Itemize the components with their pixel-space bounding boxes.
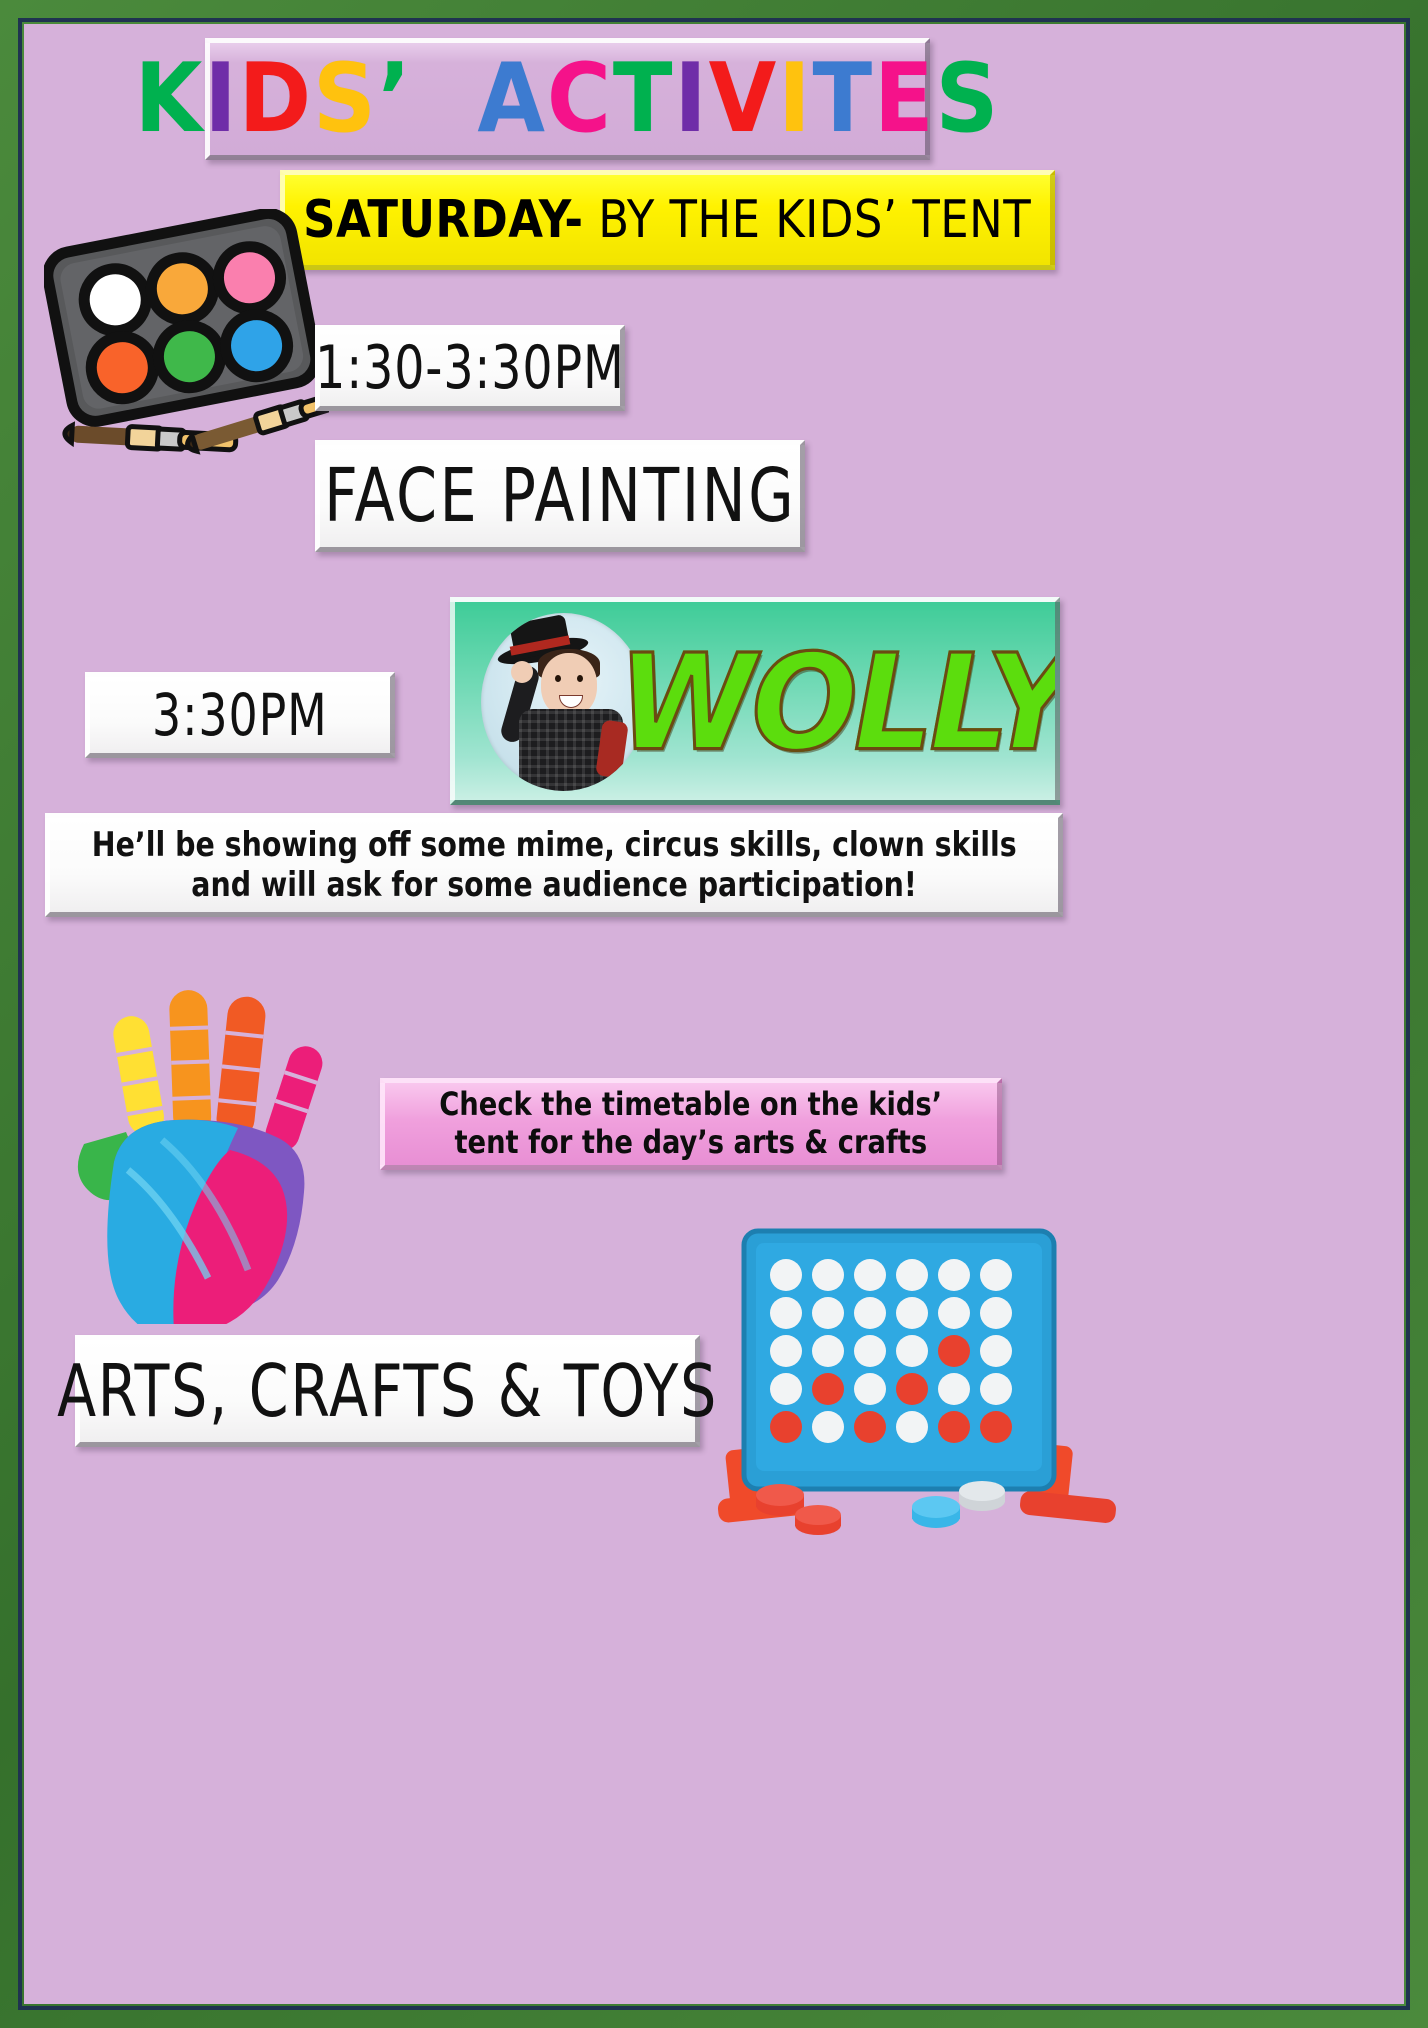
arts-crafts-toys-box: ARTS, CRAFTS & TOYS xyxy=(75,1335,700,1447)
face-painting-time: 1:30-3:30PM xyxy=(315,333,625,403)
clown-eye-right xyxy=(577,675,583,682)
saturday-banner-text: SATURDAY- BY THE KIDS’ TENT xyxy=(304,190,1032,250)
face-painting-time-box: 1:30-3:30PM xyxy=(315,325,625,411)
connect-four-icon xyxy=(714,1209,1134,1539)
paint-palette-icon xyxy=(44,209,329,469)
rainbow-handprint-icon xyxy=(54,964,339,1324)
page-title: KIDS’ ACTIVITES xyxy=(135,52,1001,147)
title-letter-11: I xyxy=(778,52,812,147)
title-letter-1: I xyxy=(204,52,238,147)
wolly-description-line-1: He’ll be showing off some mime, circus s… xyxy=(92,825,1017,865)
clown-hand xyxy=(511,661,533,683)
title-letter-4: ’ xyxy=(378,52,413,147)
arts-crafts-toys-label: ARTS, CRAFTS & TOYS xyxy=(57,1349,718,1433)
face-painting-label: FACE PAINTING xyxy=(324,453,796,539)
saturday-banner: SATURDAY- BY THE KIDS’ TENT xyxy=(280,170,1055,270)
title-letter-8: T xyxy=(613,52,674,147)
wolly-description-line-2: and will ask for some audience participa… xyxy=(191,865,917,905)
title-letter-2: D xyxy=(239,52,313,147)
title-banner: KIDS’ ACTIVITES xyxy=(205,38,930,160)
wolly-time: 3:30PM xyxy=(152,681,328,749)
title-letter-12: T xyxy=(813,52,874,147)
poster-canvas: KIDS’ ACTIVITES SATURDAY- BY THE KIDS’ T… xyxy=(0,0,1428,2028)
timetable-note-line-2: tent for the day’s arts & crafts xyxy=(455,1124,928,1162)
clown-eye-left xyxy=(555,675,561,682)
title-letter-13: E xyxy=(874,52,936,147)
title-letter-5 xyxy=(413,52,478,147)
timetable-note-box: Check the timetable on the kids’ tent fo… xyxy=(380,1078,1002,1170)
title-letter-7: C xyxy=(547,52,613,147)
wolly-banner: WOLLY xyxy=(450,597,1060,805)
face-painting-activity-box: FACE PAINTING xyxy=(315,440,805,552)
title-letter-10: V xyxy=(709,52,778,147)
title-letter-3: S xyxy=(313,52,378,147)
title-letter-0: K xyxy=(135,52,205,147)
title-letter-9: I xyxy=(674,52,708,147)
saturday-location-label: BY THE KIDS’ TENT xyxy=(584,190,1032,250)
wolly-time-box: 3:30PM xyxy=(85,672,395,758)
timetable-note-line-1: Check the timetable on the kids’ xyxy=(440,1086,943,1124)
wolly-wordmark: WOLLY xyxy=(641,613,1049,793)
title-letter-14: S xyxy=(936,52,1001,147)
saturday-day-label: SATURDAY- xyxy=(304,190,584,250)
poster-content-area: KIDS’ ACTIVITES SATURDAY- BY THE KIDS’ T… xyxy=(24,24,1404,2004)
wolly-description-box: He’ll be showing off some mime, circus s… xyxy=(45,813,1063,917)
title-letter-6: A xyxy=(477,52,546,147)
